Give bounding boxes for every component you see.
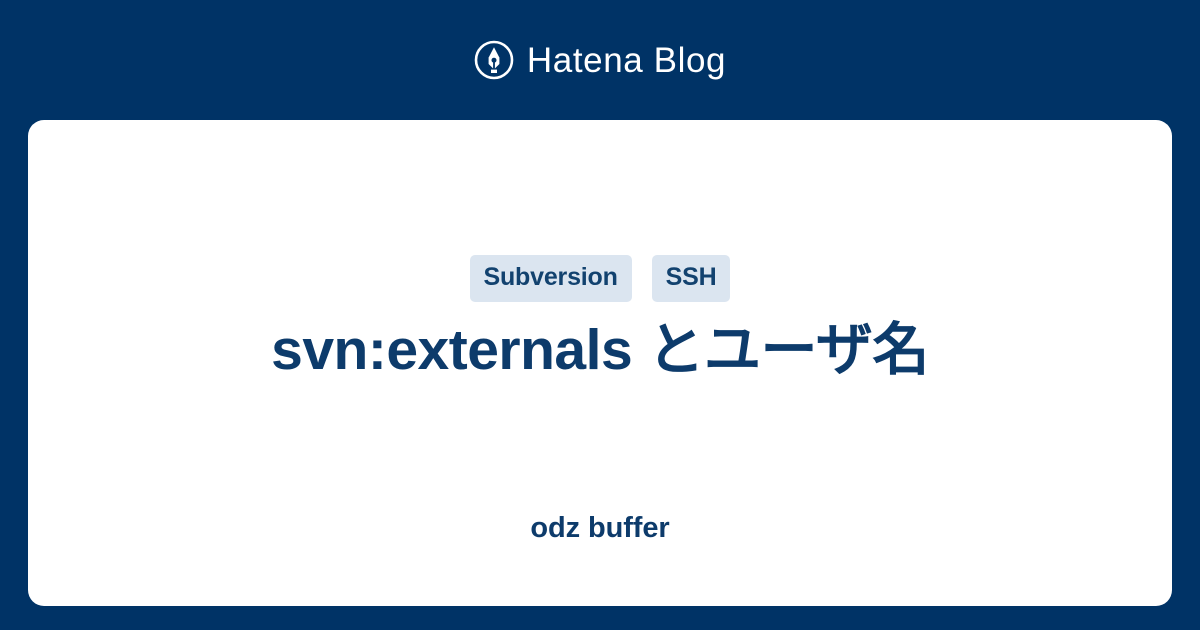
hatena-blog-brand: Hatena Blog (0, 0, 1200, 120)
ogp-card-root: Hatena Blog Subversion SSH svn:externals… (0, 0, 1200, 630)
blog-name: odz buffer (68, 511, 1132, 546)
brand-name-label: Hatena Blog (527, 43, 726, 78)
entry-card: Subversion SSH svn:externals とユーザ名 odz b… (28, 120, 1172, 606)
entry-title: svn:externals とユーザ名 (68, 316, 1132, 386)
tag-subversion[interactable]: Subversion (470, 255, 632, 302)
tag-ssh[interactable]: SSH (652, 255, 731, 302)
tag-list: Subversion SSH (28, 255, 1172, 302)
hatena-pen-nib-icon (474, 40, 514, 80)
